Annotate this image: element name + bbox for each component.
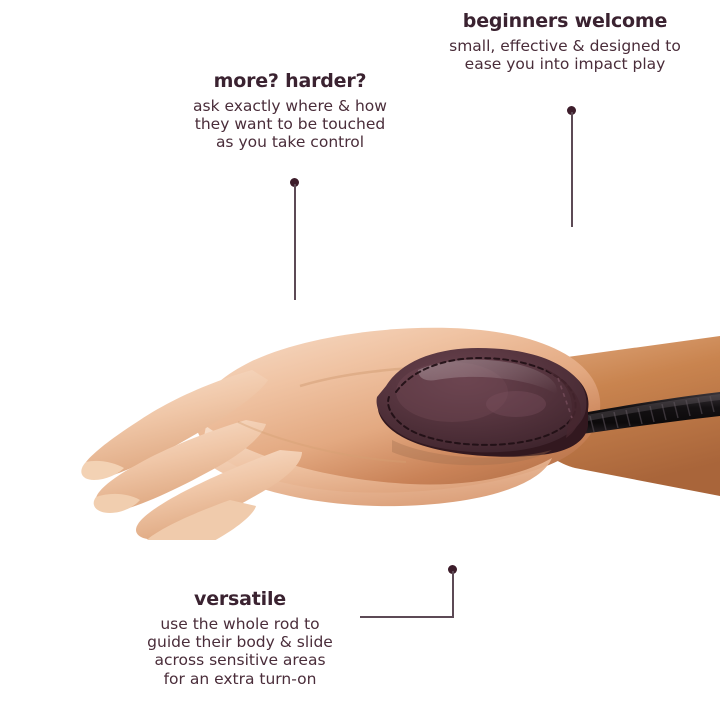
callout-beginners-welcome: beginners welcome small, effective & des… xyxy=(434,10,696,73)
callout-body: small, effective & designed to ease you … xyxy=(434,37,696,74)
infographic-canvas: beginners welcome small, effective & des… xyxy=(0,0,720,719)
connector-segment-vertical xyxy=(294,184,296,300)
callout-headline: beginners welcome xyxy=(434,10,696,34)
connector-segment-vertical xyxy=(571,112,573,227)
callout-headline: versatile xyxy=(118,588,362,612)
callout-headline: more? harder? xyxy=(168,70,412,94)
callout-versatile: versatile use the whole rod to guide the… xyxy=(118,588,362,688)
product-photo xyxy=(0,300,720,540)
connector-segment-vertical xyxy=(452,571,454,618)
callout-body: use the whole rod to guide their body & … xyxy=(118,615,362,688)
connector-segment-horizontal xyxy=(360,616,453,618)
callout-body: ask exactly where & how they want to be … xyxy=(168,97,412,152)
callout-more-harder: more? harder? ask exactly where & how th… xyxy=(168,70,412,152)
